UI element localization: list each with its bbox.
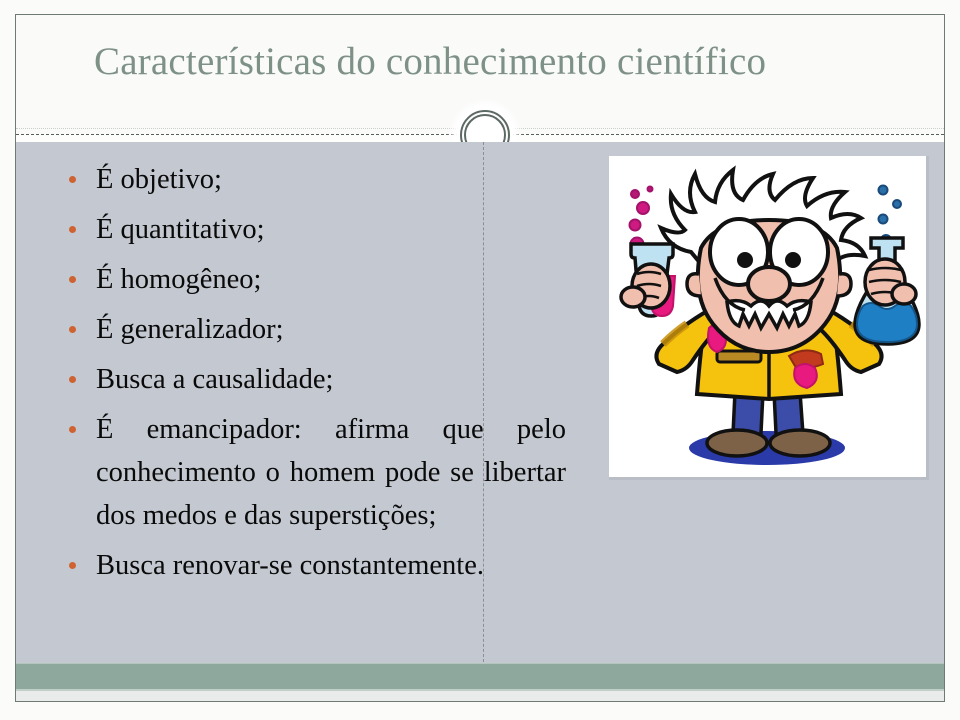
list-item-label: Busca renovar-se constantemente.: [96, 550, 484, 581]
bullet-dot-icon: [69, 276, 76, 283]
footer-hairline-bottom: [16, 689, 944, 691]
slide: Características do conhecimento científi…: [15, 14, 945, 702]
bullet-dot-icon: [69, 426, 76, 433]
list-item: É quantitativo;: [56, 208, 566, 251]
list-item-label: É emancipador: afirma que pelo conhecime…: [96, 414, 566, 531]
content-band: É objetivo; É quantitativo; É homogêneo;…: [16, 142, 944, 672]
list-item: É emancipador: afirma que pelo conhecime…: [56, 408, 566, 537]
list-item-label: É objetivo;: [96, 164, 222, 195]
bullet-dot-icon: [69, 176, 76, 183]
list-item: Busca a causalidade;: [56, 358, 566, 401]
nose: [748, 267, 790, 301]
footer-underlay: [16, 691, 944, 701]
bullet-dot-icon: [69, 376, 76, 383]
footer-bar: [16, 663, 944, 691]
list-item-label: É generalizador;: [96, 314, 284, 345]
bullet-dot-icon: [69, 326, 76, 333]
list-item-label: É quantitativo;: [96, 214, 265, 245]
list-item: Busca renovar-se constantemente.: [56, 544, 566, 587]
list-item: É objetivo;: [56, 158, 566, 201]
scientist-svg: [609, 156, 926, 477]
footer-hairline-top: [16, 663, 944, 664]
page-title: Características do conhecimento científi…: [94, 37, 894, 87]
bullet-dot-icon: [69, 226, 76, 233]
list-item: É homogêneo;: [56, 258, 566, 301]
list-item-label: Busca a causalidade;: [96, 364, 333, 395]
cartoon-scientist-illustration: [609, 156, 929, 480]
stain-right-lower: [794, 364, 817, 388]
bullet-list: É objetivo; É quantitativo; É homogêneo;…: [56, 158, 566, 594]
list-item: É generalizador;: [56, 308, 566, 351]
coat-pocket: [717, 351, 761, 362]
bullet-dot-icon: [69, 562, 76, 569]
list-item-label: É homogêneo;: [96, 264, 261, 295]
